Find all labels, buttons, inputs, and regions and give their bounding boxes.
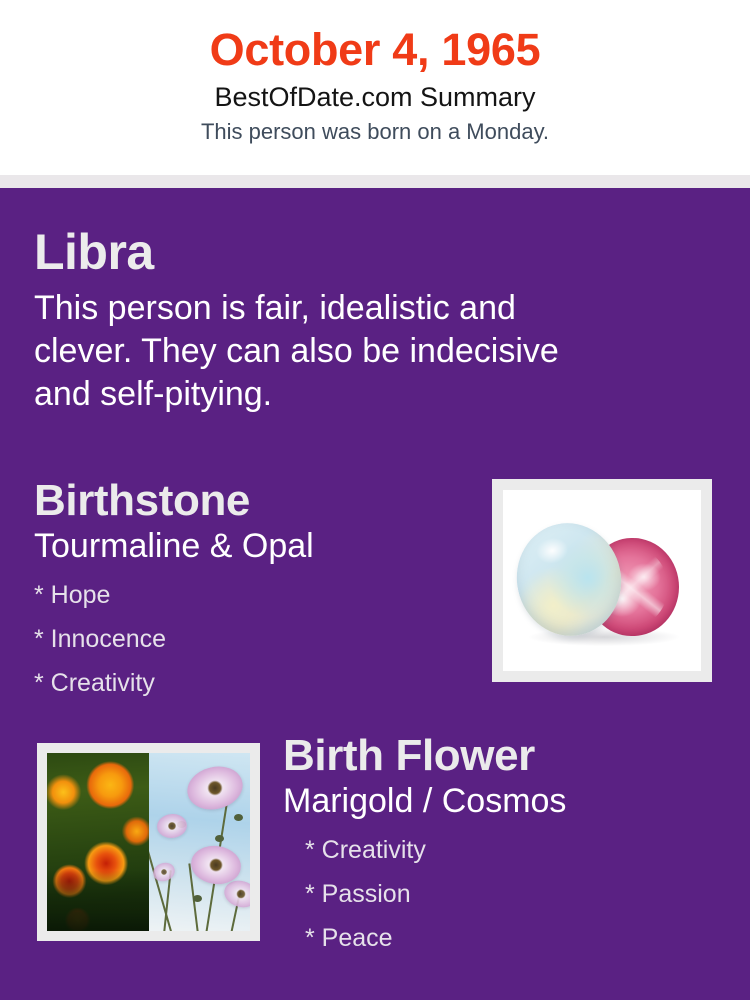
- summary-body-panel: Libra This person is fair, idealistic an…: [0, 188, 750, 1000]
- cosmos-bloom: [183, 761, 247, 815]
- birthstone-image: [503, 490, 701, 671]
- list-item: * Creativity: [305, 828, 733, 872]
- birthstone-trait-list: * Hope * Innocence * Creativity: [34, 573, 474, 705]
- birth-flower-section: Birth Flower Marigold / Cosmos * Creativ…: [283, 730, 733, 960]
- list-item: * Hope: [34, 573, 474, 617]
- list-item: * Innocence: [34, 617, 474, 661]
- header-divider: [0, 175, 750, 188]
- zodiac-sign-title: Libra: [34, 223, 614, 281]
- birth-flower-image-frame: [37, 743, 260, 941]
- list-item: * Passion: [305, 872, 733, 916]
- birthstone-heading: Birthstone: [34, 475, 474, 527]
- list-item: * Peace: [305, 916, 733, 960]
- flower-bud: [215, 835, 224, 842]
- cosmos-photo-half: [149, 753, 251, 931]
- birth-day-note: This person was born on a Monday.: [0, 116, 750, 148]
- birthstone-section: Birthstone Tourmaline & Opal * Hope * In…: [34, 475, 474, 705]
- flower-bud: [193, 895, 202, 902]
- cosmos-bloom: [150, 860, 177, 884]
- site-summary-label: BestOfDate.com Summary: [0, 78, 750, 116]
- list-item: * Creativity: [34, 661, 474, 705]
- zodiac-section: Libra This person is fair, idealistic an…: [34, 223, 614, 416]
- birthstone-name: Tourmaline & Opal: [34, 525, 474, 567]
- birth-flower-heading: Birth Flower: [283, 730, 733, 782]
- birthstone-image-frame: [492, 479, 712, 682]
- bestofdate-summary-card: October 4, 1965 BestOfDate.com Summary T…: [0, 0, 750, 1000]
- card-header: October 4, 1965 BestOfDate.com Summary T…: [0, 0, 750, 175]
- marigold-photo-half: [47, 753, 149, 931]
- cosmos-bloom: [155, 812, 187, 839]
- flower-bud: [234, 814, 243, 821]
- birth-flower-trait-list: * Creativity * Passion * Peace: [305, 828, 733, 960]
- zodiac-description: This person is fair, idealistic and clev…: [34, 287, 614, 416]
- page-title-date: October 4, 1965: [0, 22, 750, 78]
- birth-flower-image: [47, 753, 250, 931]
- birth-flower-name: Marigold / Cosmos: [283, 780, 733, 822]
